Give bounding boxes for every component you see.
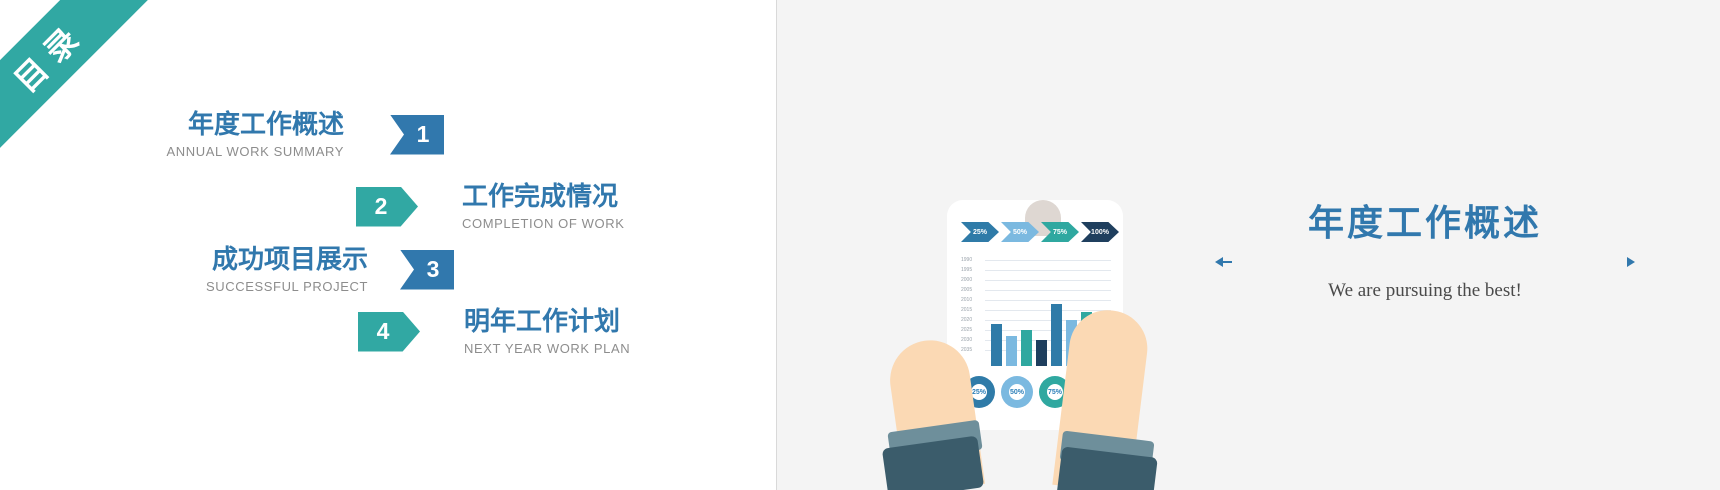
tablet-illustration: 25% 50% 75% 100% — [877, 190, 1177, 490]
y-tick-1: 1995 — [961, 267, 972, 273]
chevron-step-1-label: 25% — [973, 229, 987, 236]
chevron-step-2-label: 50% — [1013, 229, 1027, 236]
bar — [1006, 336, 1017, 366]
menu-item-4-title: 明年工作计划 — [464, 307, 620, 337]
menu-item-1-text: 年度工作概述 ANNUAL WORK SUMMARY — [148, 110, 344, 159]
menu-item-3[interactable]: 成功项目展示 SUCCESSFUL PROJECT 3 — [172, 245, 454, 294]
menu-item-2-text: 工作完成情况 COMPLETION OF WORK — [462, 182, 624, 231]
menu-item-4-subtitle: NEXT YEAR WORK PLAN — [464, 341, 630, 356]
y-tick-9: 2035 — [961, 347, 972, 353]
menu-item-4-number: 4 — [377, 318, 390, 345]
donut-gauge-2-label: 50% — [1010, 389, 1024, 396]
arrow-bar — [1221, 261, 1232, 263]
y-tick-8: 2030 — [961, 337, 972, 343]
menu-item-1-badge[interactable]: 1 — [390, 115, 444, 155]
slide-canvas: 目录 年度工作概述 ANNUAL WORK SUMMARY 1 2 工作完成情 — [0, 0, 1720, 490]
donut-gauge-3-label: 75% — [1048, 389, 1062, 396]
chevron-step-3-label: 75% — [1053, 229, 1067, 236]
menu-item-4-text: 明年工作计划 NEXT YEAR WORK PLAN — [464, 307, 630, 356]
y-tick-2: 2000 — [961, 277, 972, 283]
bar — [991, 324, 1002, 366]
arrow-right-icon — [1627, 257, 1635, 267]
menu-item-2-title: 工作完成情况 — [462, 182, 618, 212]
y-tick-0: 1990 — [961, 257, 972, 263]
menu-item-1[interactable]: 年度工作概述 ANNUAL WORK SUMMARY 1 — [148, 110, 444, 159]
y-tick-4: 2010 — [961, 297, 972, 303]
bar — [1021, 330, 1032, 366]
menu-item-2[interactable]: 2 工作完成情况 COMPLETION OF WORK — [356, 182, 624, 231]
contents-pane: 目录 年度工作概述 ANNUAL WORK SUMMARY 1 2 工作完成情 — [0, 0, 776, 490]
donut-gauge-2: 50% — [1001, 376, 1033, 408]
menu-item-3-text: 成功项目展示 SUCCESSFUL PROJECT — [172, 245, 368, 294]
y-tick-5: 2015 — [961, 307, 972, 313]
menu-item-4-badge[interactable]: 4 — [358, 312, 420, 352]
chevron-step-4: 100% — [1081, 222, 1119, 242]
donut-gauge-1-label: 25% — [972, 389, 986, 396]
chevron-step-1: 25% — [961, 222, 999, 242]
bar — [1036, 340, 1047, 366]
menu-item-2-subtitle: COMPLETION OF WORK — [462, 216, 624, 231]
y-tick-3: 2005 — [961, 287, 972, 293]
section-headline: 年度工作概述 — [1190, 202, 1660, 246]
menu-item-2-badge[interactable]: 2 — [356, 187, 418, 227]
section-tagline: We are pursuing the best! — [1190, 280, 1660, 302]
menu-item-3-subtitle: SUCCESSFUL PROJECT — [206, 279, 368, 294]
chevron-step-4-label: 100% — [1091, 229, 1109, 236]
section-headline-block: 年度工作概述 We are pursuing the best! — [1190, 202, 1660, 302]
menu-item-1-title: 年度工作概述 — [188, 110, 344, 140]
menu-item-1-number: 1 — [417, 121, 430, 148]
chevron-progress-row: 25% 50% 75% 100% — [961, 222, 1119, 242]
menu-item-3-badge[interactable]: 3 — [400, 250, 454, 290]
menu-item-3-title: 成功项目展示 — [212, 245, 368, 275]
double-arrow-divider — [1215, 256, 1635, 268]
contents-menu: 年度工作概述 ANNUAL WORK SUMMARY 1 2 工作完成情况 CO… — [0, 0, 776, 490]
chevron-step-2: 50% — [1001, 222, 1039, 242]
y-tick-7: 2025 — [961, 327, 972, 333]
y-tick-6: 2020 — [961, 317, 972, 323]
menu-item-2-number: 2 — [375, 193, 388, 220]
menu-item-3-number: 3 — [427, 256, 440, 283]
menu-item-1-subtitle: ANNUAL WORK SUMMARY — [166, 144, 344, 159]
bar — [1051, 304, 1062, 366]
menu-item-4[interactable]: 4 明年工作计划 NEXT YEAR WORK PLAN — [358, 307, 630, 356]
chevron-step-3: 75% — [1041, 222, 1079, 242]
section-cover-pane: 25% 50% 75% 100% — [777, 0, 1720, 490]
